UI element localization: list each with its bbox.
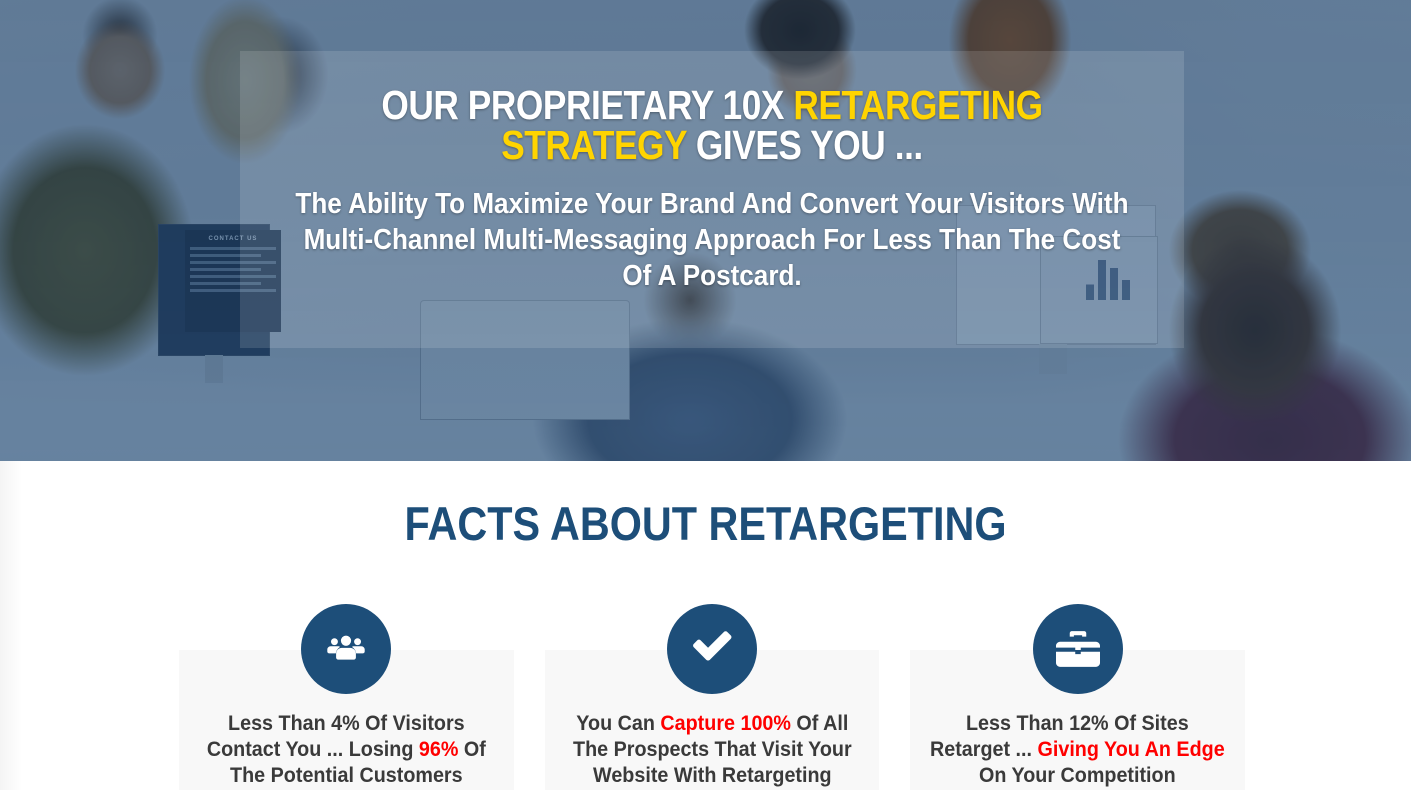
fact-card: You Can Capture 100% Of All The Prospect… — [545, 650, 880, 790]
fact-card-text: You Can Capture 100% Of All The Prospect… — [555, 711, 870, 789]
facts-section: FACTS ABOUT RETARGETING Less Than 4% Of … — [0, 461, 1411, 790]
users-group-icon — [301, 604, 391, 694]
hero-headline: OUR PROPRIETARY 10X RETARGETING STRATEGY… — [306, 85, 1118, 165]
fact-card-text: Less Than 4% Of Visitors Contact You ...… — [189, 711, 504, 789]
fact-card: Less Than 12% Of Sites Retarget ... Givi… — [910, 650, 1245, 790]
headline-highlight-strategy: STRATEGY — [501, 122, 686, 168]
fact-card-text: Less Than 12% Of Sites Retarget ... Givi… — [920, 711, 1235, 789]
facts-section-title: FACTS ABOUT RETARGETING — [85, 499, 1327, 549]
hero-section: CONTACT US OUR PROPRIETARY 10X RETARGETI… — [0, 0, 1411, 461]
briefcase-icon — [1033, 604, 1123, 694]
hero-content: OUR PROPRIETARY 10X RETARGETING STRATEGY… — [0, 0, 1411, 461]
headline-part-3: GIVES YOU ... — [686, 122, 922, 168]
landing-page: CONTACT US OUR PROPRIETARY 10X RETARGETI… — [0, 0, 1411, 790]
facts-card-list: Less Than 4% Of Visitors Contact You ...… — [179, 650, 1245, 790]
hero-subheadline: The Ability To Maximize Your Brand And C… — [287, 186, 1137, 294]
check-mark-icon — [667, 604, 757, 694]
fact-card: Less Than 4% Of Visitors Contact You ...… — [179, 650, 514, 790]
